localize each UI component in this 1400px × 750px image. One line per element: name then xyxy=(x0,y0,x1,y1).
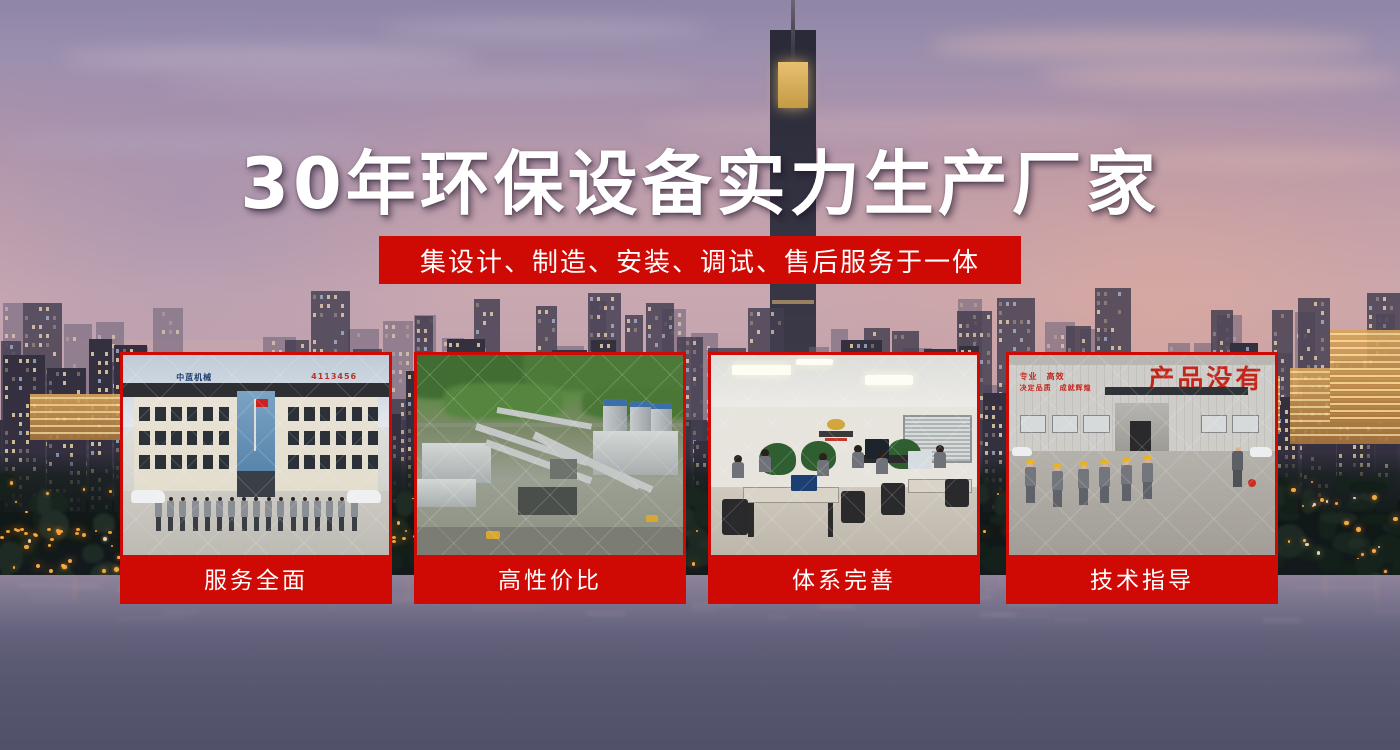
building-window xyxy=(1383,297,1386,301)
building-window xyxy=(424,338,427,342)
staff-member xyxy=(326,497,333,531)
building-window xyxy=(611,324,614,328)
building-window xyxy=(1369,315,1372,319)
office-chair xyxy=(881,483,905,515)
building-window xyxy=(1118,292,1121,296)
building-window xyxy=(750,312,753,316)
factory-worker xyxy=(1121,457,1132,501)
building-window xyxy=(169,330,172,334)
building-window xyxy=(1369,306,1372,310)
building-window xyxy=(1321,347,1324,351)
building-window xyxy=(385,325,388,329)
building-window xyxy=(483,321,486,325)
water-light-streak xyxy=(979,613,1017,616)
building-window xyxy=(1013,347,1016,351)
building-window xyxy=(538,346,541,350)
supervisor xyxy=(1232,443,1243,487)
office-worker xyxy=(852,445,864,467)
card-photo-office-interior xyxy=(711,355,977,555)
building-window xyxy=(750,339,753,343)
building-window xyxy=(272,341,275,345)
building-window xyxy=(545,337,548,341)
card-caption: 体系完善 xyxy=(711,555,977,601)
building-window xyxy=(1383,324,1386,328)
building-window xyxy=(73,337,76,341)
building-window xyxy=(864,344,867,348)
building-window xyxy=(1020,320,1023,324)
building-window xyxy=(1097,301,1100,305)
building-window xyxy=(1013,329,1016,333)
building-window xyxy=(417,338,420,342)
staff-member xyxy=(228,497,235,531)
building-window xyxy=(901,335,904,339)
water-light-streak xyxy=(116,617,187,620)
office-worker xyxy=(817,453,829,477)
building-window xyxy=(176,330,179,334)
building-window xyxy=(5,316,8,320)
building-window xyxy=(669,325,672,329)
plant-structure xyxy=(550,459,577,479)
feature-card-row: 中蓝机械 4113456 · 服务全面 xyxy=(0,352,1400,604)
building-window xyxy=(1097,292,1100,296)
building-window xyxy=(648,334,651,338)
building-window xyxy=(987,333,990,337)
building-window xyxy=(10,345,13,349)
office-worker xyxy=(759,449,771,471)
building-window xyxy=(607,344,610,348)
staff-member xyxy=(290,497,297,531)
staff-member xyxy=(179,497,186,531)
photo-scene: 产品没有 专业 高效 决定品质 成就辉煌 xyxy=(1009,355,1275,555)
building-window xyxy=(456,343,459,347)
office-chair xyxy=(722,499,749,535)
building-window xyxy=(634,328,637,332)
building-window xyxy=(5,334,8,338)
building-window xyxy=(655,316,658,320)
building-window xyxy=(597,315,600,319)
building-window xyxy=(857,344,860,348)
page-title: 30年环保设备实力生产厂家 xyxy=(0,128,1400,229)
building-window xyxy=(750,321,753,325)
office-ceiling xyxy=(711,355,977,407)
subtitle-text: 集设计、制造、安装、调试、售后服务于一体 xyxy=(420,242,980,279)
office-worker xyxy=(876,451,888,473)
staff-member xyxy=(302,497,309,531)
factory-worker xyxy=(1052,463,1063,507)
building-window xyxy=(32,343,35,347)
building-window xyxy=(320,313,323,317)
building-window xyxy=(648,307,651,311)
building-window xyxy=(1097,328,1100,332)
feature-card[interactable]: 体系完善 xyxy=(708,352,980,604)
desk-leg xyxy=(748,503,753,537)
building-window xyxy=(873,332,876,336)
building-window xyxy=(39,343,42,347)
feature-card[interactable]: 中蓝机械 4113456 · 服务全面 xyxy=(120,352,392,604)
building-window xyxy=(627,328,630,332)
tower-band-light xyxy=(772,300,814,304)
building-window xyxy=(112,335,115,339)
factory-worker xyxy=(1099,459,1110,503)
building-window xyxy=(1369,324,1372,328)
staff-member xyxy=(314,497,321,531)
laptop xyxy=(791,475,818,491)
building-window xyxy=(1061,335,1064,339)
banner-stage: 30年环保设备实力生产厂家 集设计、制造、安装、调试、售后服务于一体 中蓝机械 … xyxy=(0,0,1400,750)
photo-scene xyxy=(417,355,683,555)
card-caption: 高性价比 xyxy=(417,555,683,601)
building-window xyxy=(1246,347,1249,351)
building-window xyxy=(1006,302,1009,306)
building-window xyxy=(39,307,42,311)
building-window xyxy=(169,321,172,325)
building-window xyxy=(46,307,49,311)
building-window xyxy=(1118,310,1121,314)
building-window xyxy=(1307,347,1310,351)
building-window xyxy=(973,333,976,337)
building-window xyxy=(477,343,480,347)
building-window xyxy=(53,325,56,329)
facade-light-stripe xyxy=(1330,340,1400,342)
building-window xyxy=(871,344,874,348)
building-window xyxy=(1376,297,1379,301)
building-window xyxy=(1027,320,1030,324)
factory-worker xyxy=(1078,461,1089,505)
card-caption: 服务全面 xyxy=(123,555,389,601)
office-worker xyxy=(732,455,744,479)
building-window xyxy=(385,334,388,338)
building-window xyxy=(999,320,1002,324)
building-window xyxy=(417,320,420,324)
building-window xyxy=(490,312,493,316)
desk-leg xyxy=(828,503,833,537)
building-window xyxy=(611,297,614,301)
subtitle-banner: 集设计、制造、安装、调试、售后服务于一体 xyxy=(379,236,1021,284)
building-window xyxy=(611,306,614,310)
building-window xyxy=(1213,332,1216,336)
building-window xyxy=(341,331,344,335)
tower-crown-light xyxy=(778,62,808,108)
building-window xyxy=(1097,310,1100,314)
monitor xyxy=(908,451,932,469)
building-window xyxy=(1013,302,1016,306)
building-window xyxy=(1027,329,1030,333)
building-window xyxy=(590,333,593,337)
building-window xyxy=(678,313,681,317)
building-window xyxy=(678,331,681,335)
building-window xyxy=(999,329,1002,333)
building-window xyxy=(1020,338,1023,342)
facade-light-stripe xyxy=(1330,333,1400,335)
building-window xyxy=(25,334,28,338)
building-window xyxy=(392,325,395,329)
building-window xyxy=(987,315,990,319)
building-window xyxy=(662,334,665,338)
building-window xyxy=(600,344,603,348)
building-window xyxy=(693,341,696,345)
building-window xyxy=(597,297,600,301)
plant-warehouse xyxy=(422,443,491,483)
building-window xyxy=(32,325,35,329)
building-window xyxy=(627,319,630,323)
card-caption-label: 体系完善 xyxy=(792,561,896,595)
building-window xyxy=(980,333,983,337)
building-window xyxy=(538,319,541,323)
factory-worker xyxy=(1142,455,1153,499)
building-window xyxy=(1082,339,1085,343)
building-window xyxy=(590,315,593,319)
water-light-streak xyxy=(586,612,625,615)
water-light-streak xyxy=(472,606,539,609)
building-window xyxy=(46,343,49,347)
building-window xyxy=(648,325,651,329)
building-window xyxy=(1104,301,1107,305)
staff-member xyxy=(167,497,174,531)
building-window xyxy=(66,337,69,341)
photo-scene xyxy=(711,355,977,555)
water-light-streak xyxy=(1054,618,1089,621)
building-window xyxy=(590,297,593,301)
staff-member xyxy=(253,497,260,531)
building-window xyxy=(1321,320,1324,324)
building-window xyxy=(1274,332,1277,336)
parked-car xyxy=(131,490,165,503)
water-light-streak xyxy=(162,611,198,614)
building-window xyxy=(604,306,607,310)
building-window xyxy=(604,333,607,337)
plant-yard xyxy=(417,527,683,555)
building-window xyxy=(1227,314,1230,318)
building-window xyxy=(850,344,853,348)
water-light-streak xyxy=(1262,619,1301,622)
building-window xyxy=(678,322,681,326)
building-window xyxy=(1390,306,1393,310)
building-window xyxy=(973,315,976,319)
building-window xyxy=(417,329,420,333)
card-caption-label: 技术指导 xyxy=(1090,561,1194,595)
building-window xyxy=(1111,328,1114,332)
building-window xyxy=(1013,320,1016,324)
building-window xyxy=(46,316,49,320)
building-window xyxy=(757,330,760,334)
building-window xyxy=(424,347,427,351)
building-window xyxy=(1061,344,1064,348)
building-window xyxy=(357,333,360,337)
building-window xyxy=(313,340,316,344)
building-window xyxy=(1321,338,1324,342)
building-window xyxy=(327,295,330,299)
building-window xyxy=(320,295,323,299)
tower-spire xyxy=(791,0,795,66)
building-window xyxy=(53,316,56,320)
building-window xyxy=(341,304,344,308)
building-window xyxy=(771,312,774,316)
building-window xyxy=(327,304,330,308)
building-window xyxy=(1097,346,1100,350)
building-window xyxy=(46,334,49,338)
building-window xyxy=(313,295,316,299)
building-window xyxy=(597,333,600,337)
building-window xyxy=(1104,337,1107,341)
building-window xyxy=(162,312,165,316)
staff-member xyxy=(277,497,284,531)
ceiling-light xyxy=(865,375,913,385)
building-window xyxy=(406,334,409,338)
building-window xyxy=(334,295,337,299)
building-window xyxy=(1047,344,1050,348)
staff-row xyxy=(123,355,389,555)
building-window xyxy=(334,313,337,317)
ceiling-light xyxy=(732,365,791,375)
building-window xyxy=(476,330,479,334)
building-window xyxy=(12,334,15,338)
card-photo-company-building: 中蓝机械 4113456 · xyxy=(123,355,389,555)
building-window xyxy=(1314,302,1317,306)
building-window xyxy=(538,310,541,314)
building-window xyxy=(301,344,304,348)
building-window xyxy=(966,324,969,328)
building-window xyxy=(483,312,486,316)
building-window xyxy=(1104,328,1107,332)
plant-warehouse xyxy=(417,479,476,507)
building-window xyxy=(1220,341,1223,345)
building-window xyxy=(1097,337,1100,341)
building-window xyxy=(545,310,548,314)
building-window xyxy=(1274,341,1277,345)
building-window xyxy=(894,335,897,339)
building-window xyxy=(959,333,962,337)
building-window xyxy=(552,319,555,323)
ceiling-light xyxy=(796,359,833,365)
building-window xyxy=(406,325,409,329)
feature-card[interactable]: 高性价比 xyxy=(414,352,686,604)
building-window xyxy=(449,343,452,347)
building-window xyxy=(1321,302,1324,306)
building-window xyxy=(424,329,427,333)
staff-member xyxy=(192,497,199,531)
office-chair xyxy=(945,479,969,507)
staff-member xyxy=(204,497,211,531)
water-light-streak xyxy=(861,622,920,625)
staff-member xyxy=(265,497,272,531)
building-window xyxy=(999,311,1002,315)
card-photo-plant-aerial xyxy=(417,355,683,555)
excavator xyxy=(646,515,658,522)
building-window xyxy=(1006,320,1009,324)
building-window xyxy=(39,325,42,329)
card-caption-label: 高性价比 xyxy=(498,561,602,595)
building-window xyxy=(1383,306,1386,310)
excavator xyxy=(486,531,500,539)
building-window xyxy=(771,330,774,334)
water-light-streak xyxy=(818,605,856,608)
parked-car xyxy=(347,490,381,503)
building-window xyxy=(1027,347,1030,351)
card-caption-label: 服务全面 xyxy=(204,561,308,595)
plant-shed-dark xyxy=(518,487,577,515)
staff-member xyxy=(216,497,223,531)
staff-member xyxy=(241,497,248,531)
card-caption: 技术指导 xyxy=(1009,555,1275,601)
building-window xyxy=(1233,337,1236,341)
facade-light-stripe xyxy=(1330,347,1400,349)
building-window xyxy=(476,303,479,307)
building-window xyxy=(39,334,42,338)
building-window xyxy=(162,330,165,334)
water-light-streak xyxy=(1373,610,1400,613)
building-window xyxy=(959,324,962,328)
building-window xyxy=(334,340,337,344)
building-window xyxy=(1054,335,1057,339)
factory-worker xyxy=(1025,459,1036,503)
building-window xyxy=(999,302,1002,306)
staff-member xyxy=(338,497,345,531)
water-light-streak xyxy=(767,616,789,619)
building-window xyxy=(757,312,760,316)
building-window xyxy=(417,347,420,351)
building-window xyxy=(1170,347,1173,351)
building-window xyxy=(313,313,316,317)
building-window xyxy=(960,303,963,307)
building-window xyxy=(778,321,781,325)
building-window xyxy=(25,316,28,320)
water-light-streak xyxy=(689,608,715,611)
building-window xyxy=(1307,329,1310,333)
building-window xyxy=(552,328,555,332)
building-window xyxy=(25,343,28,347)
building-window xyxy=(1321,311,1324,315)
building-window xyxy=(999,338,1002,342)
building-window xyxy=(341,313,344,317)
building-window xyxy=(634,319,637,323)
building-window xyxy=(392,334,395,338)
building-window xyxy=(655,343,658,347)
office-chair xyxy=(841,491,865,523)
photo-scene: 中蓝机械 4113456 xyxy=(123,355,389,555)
feature-card[interactable]: 产品没有 专业 高效 决定品质 成就辉煌 xyxy=(1006,352,1278,604)
building-window xyxy=(686,341,689,345)
building-window xyxy=(1118,346,1121,350)
building-window xyxy=(1104,319,1107,323)
office-worker xyxy=(934,445,946,467)
building-window xyxy=(1281,314,1284,318)
building-window xyxy=(1104,292,1107,296)
building-window xyxy=(5,307,8,311)
building-window xyxy=(611,333,614,337)
card-photo-workers-briefing: 产品没有 专业 高效 决定品质 成就辉煌 xyxy=(1009,355,1275,555)
building-window xyxy=(974,303,977,307)
building-window xyxy=(320,304,323,308)
building-window xyxy=(669,316,672,320)
building-window xyxy=(966,333,969,337)
building-window xyxy=(1111,346,1114,350)
